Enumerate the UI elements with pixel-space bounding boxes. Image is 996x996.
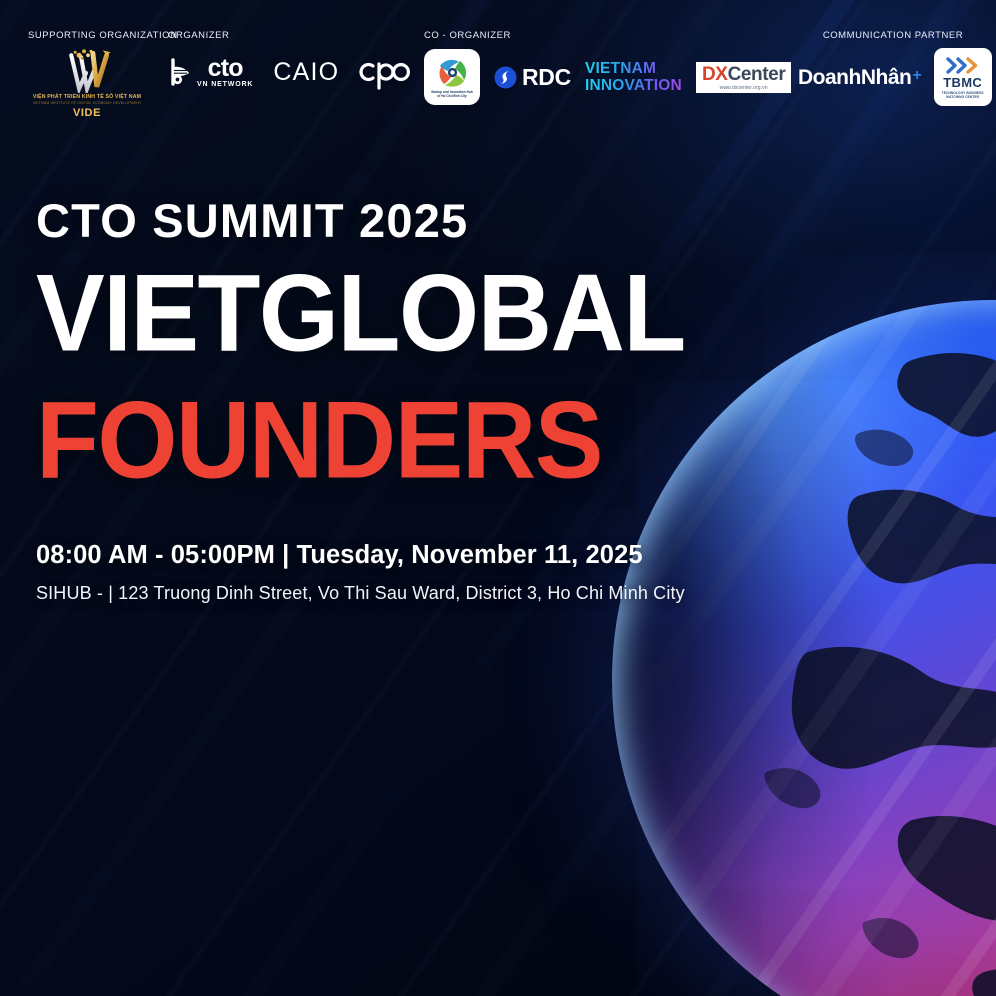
logo-group-co-organizer: CO - ORGANIZER Startup and Innovati xyxy=(424,30,791,107)
tbmc-logo: TBMC TECHNOLOGY BUSINESS MATCHING CENTER xyxy=(934,48,992,106)
event-headline: VIETGLOBAL xyxy=(36,257,936,368)
doanh-nhan-plus-logo: DoanhNhân + xyxy=(798,67,922,88)
dxcenter-url: www.dxcenter.org.vn xyxy=(720,85,768,91)
vide-logo: VIỆN PHÁT TRIỂN KINH TẾ SỐ VIỆT NAM VIET… xyxy=(28,47,146,119)
dxcenter-word-dx: DX xyxy=(702,64,728,85)
caio-logo: CAIO xyxy=(273,60,339,85)
vietnam-innovation-line2: INNOVATION xyxy=(585,78,682,94)
cto-word: cto xyxy=(208,57,243,80)
tbmc-word: TBMC xyxy=(943,76,982,89)
cto-wordmark: cto VN NETWORK xyxy=(197,57,253,88)
partner-logo-bar: SUPPORTING ORGANIZATION xyxy=(0,0,996,124)
logo-row-supporting: VIỆN PHÁT TRIỂN KINH TẾ SỐ VIỆT NAM VIET… xyxy=(28,47,178,119)
vide-abbreviation: VIDE xyxy=(28,107,146,119)
dxcenter-logo: DXCenter www.dxcenter.org.vn xyxy=(696,62,791,93)
cto-vn-network-logo: cto VN NETWORK xyxy=(168,57,253,88)
logo-group-supporting-organization: SUPPORTING ORGANIZATION xyxy=(28,30,178,119)
sihub-tagline-line2: of Ho Chi Minh City xyxy=(437,94,466,98)
event-poster: SUPPORTING ORGANIZATION xyxy=(0,0,996,996)
vietnam-innovation-line1: VIETNAM xyxy=(585,61,682,77)
cpo-logo xyxy=(359,52,413,92)
rdc-logo: RDC xyxy=(494,66,571,89)
cto-bird-mark-icon xyxy=(168,58,193,86)
vide-v-mark-icon xyxy=(28,47,146,93)
rdc-circle-icon xyxy=(494,66,517,89)
poster-content: CTO SUMMIT 2025 VIETGLOBAL FOUNDERS 08:0… xyxy=(36,196,936,604)
group-label-communication-partner: COMMUNICATION PARTNER xyxy=(798,30,988,41)
vide-name-english: VIETNAM INSTITUTE OF DIGITAL ECONOMY DEV… xyxy=(28,101,146,105)
dxcenter-word-center: Center xyxy=(728,64,786,85)
rdc-word: RDC xyxy=(522,66,571,89)
doanh-nhan-word: DoanhNhân xyxy=(798,67,911,88)
logo-group-organizer: ORGANIZER cto xyxy=(168,30,413,97)
event-venue: SIHUB - | 123 Truong Dinh Street, Vo Thi… xyxy=(36,583,936,604)
tbmc-subtitle-line2: MATCHING CENTER xyxy=(946,95,979,99)
group-label-co-organizer: CO - ORGANIZER xyxy=(424,30,791,41)
vide-name-vietnamese: VIỆN PHÁT TRIỂN KINH TẾ SỐ VIỆT NAM xyxy=(28,94,146,100)
group-label-organizer: ORGANIZER xyxy=(168,30,413,41)
sihub-swirl-icon xyxy=(436,57,469,88)
event-kicker: CTO SUMMIT 2025 xyxy=(36,196,936,247)
dxcenter-wordmark: DXCenter xyxy=(702,65,785,84)
logo-row-communication: DoanhNhân + TBMC TECHNOLOGY BUSINESS MAT… xyxy=(798,47,992,107)
event-datetime: 08:00 AM - 05:00PM | Tuesday, November 1… xyxy=(36,541,936,570)
event-headline-accent: FOUNDERS xyxy=(36,384,936,495)
logo-row-co-organizer: Startup and Innovation Hub of Ho Chi Min… xyxy=(424,47,791,107)
logo-group-communication-partner: COMMUNICATION PARTNER DoanhNhân + TBMC xyxy=(798,30,992,107)
group-label-supporting-organization: SUPPORTING ORGANIZATION xyxy=(28,30,178,41)
sihub-logo: Startup and Innovation Hub of Ho Chi Min… xyxy=(424,49,480,105)
doanh-nhan-plus-sign: + xyxy=(912,68,921,84)
vietnam-innovation-logo: VIETNAM INNOVATION xyxy=(585,61,682,93)
cto-subtitle: VN NETWORK xyxy=(197,81,253,88)
tbmc-chevrons-icon xyxy=(946,57,980,74)
logo-row-organizer: cto VN NETWORK CAIO xyxy=(168,47,413,97)
